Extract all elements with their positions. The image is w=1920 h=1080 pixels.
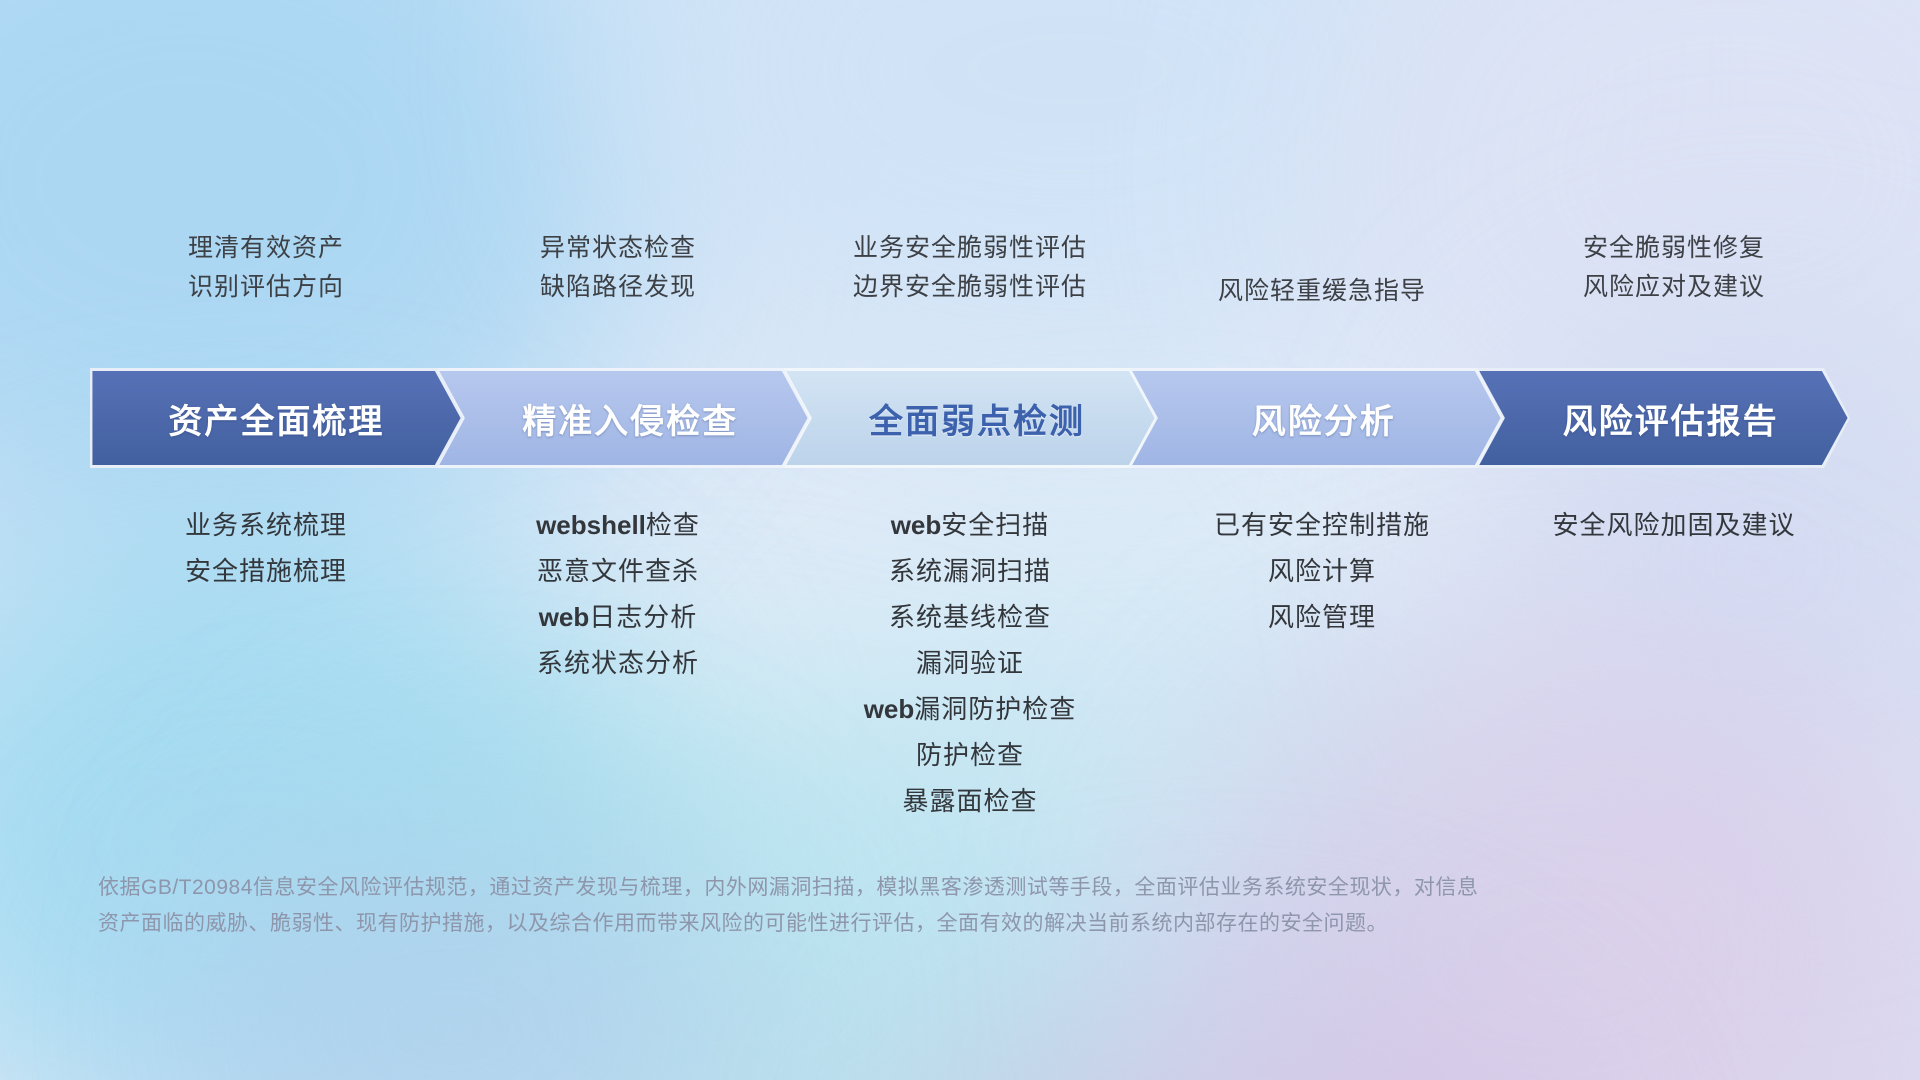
process-stage-label: 风险评估报告	[1563, 394, 1779, 443]
top-detail-col-weakness-detection: 业务安全脆弱性评估边界安全脆弱性评估	[794, 236, 1146, 346]
infographic-canvas: 理清有效资产识别评估方向异常状态检查缺陷路径发现业务安全脆弱性评估边界安全脆弱性…	[0, 0, 1920, 1080]
top-detail-item: 识别评估方向	[188, 275, 344, 300]
bottom-detail-col-asset-inventory: 业务系统梳理安全措施梳理	[90, 512, 442, 584]
process-stage-asset-inventory[interactable]: 资产全面梳理	[90, 368, 463, 468]
footer-line-1: 依据GB/T20984信息安全风险评估规范，通过资产发现与梳理，内外网漏洞扫描，…	[98, 870, 1818, 906]
process-stage-label: 全面弱点检测	[869, 394, 1085, 443]
bottom-detail-text: 安全扫描	[941, 510, 1049, 540]
bottom-detail-item: 恶意文件查杀	[537, 558, 699, 584]
bottom-detail-item: 安全风险加固及建议	[1552, 512, 1795, 538]
top-detail-col-assessment-report: 安全脆弱性修复风险应对及建议	[1498, 236, 1850, 346]
top-detail-item: 边界安全脆弱性评估	[853, 275, 1087, 300]
bottom-detail-item: 业务系统梳理	[185, 512, 347, 538]
bottom-detail-item: 已有安全控制措施	[1214, 512, 1430, 538]
process-stage-label: 精准入侵检查	[522, 394, 738, 443]
bottom-detail-item: 风险管理	[1268, 604, 1376, 630]
top-detail-item: 安全脆弱性修复	[1583, 236, 1765, 261]
background-blob	[880, 980, 1580, 1080]
bottom-detail-col-weakness-detection: web安全扫描系统漏洞扫描系统基线检查漏洞验证web漏洞防护检查防护检查暴露面检…	[794, 512, 1146, 814]
bottom-detail-text: 日志分析	[589, 602, 697, 632]
bottom-detail-item: 防护检查	[916, 742, 1024, 768]
process-stage-label: 风险分析	[1252, 394, 1396, 443]
bottom-detail-item: 风险计算	[1268, 558, 1376, 584]
bottom-detail-item: web安全扫描	[891, 512, 1050, 538]
process-stage-label: 资产全面梳理	[168, 394, 384, 443]
bottom-detail-item: 系统基线检查	[889, 604, 1051, 630]
bottom-detail-text: 检查	[646, 510, 700, 540]
top-detail-col-intrusion-check: 异常状态检查缺陷路径发现	[442, 236, 794, 346]
top-detail-col-risk-analysis: 风险轻重缓急指导	[1146, 236, 1498, 346]
process-stage-weakness-detection[interactable]: 全面弱点检测	[784, 368, 1157, 468]
footer-line-2: 资产面临的威胁、脆弱性、现有防护措施，以及综合作用而带来风险的可能性进行评估，全…	[98, 906, 1818, 942]
bottom-detail-emphasis: web	[539, 602, 590, 632]
bottom-detail-item: web日志分析	[539, 604, 698, 630]
bottom-detail-row: 业务系统梳理安全措施梳理webshell检查恶意文件查杀web日志分析系统状态分…	[90, 512, 1850, 814]
top-detail-item: 缺陷路径发现	[540, 275, 696, 300]
footer-description: 依据GB/T20984信息安全风险评估规范，通过资产发现与梳理，内外网漏洞扫描，…	[98, 870, 1818, 942]
bottom-detail-item: web漏洞防护检查	[864, 696, 1077, 722]
bottom-detail-emphasis: web	[891, 510, 942, 540]
bottom-detail-item: 系统状态分析	[537, 650, 699, 676]
process-arrow-band: 资产全面梳理精准入侵检查全面弱点检测风险分析风险评估报告	[90, 368, 1850, 468]
top-detail-item: 风险轻重缓急指导	[1218, 279, 1426, 304]
bottom-detail-item: webshell检查	[536, 512, 700, 538]
top-detail-row: 理清有效资产识别评估方向异常状态检查缺陷路径发现业务安全脆弱性评估边界安全脆弱性…	[90, 236, 1850, 346]
process-stage-intrusion-check[interactable]: 精准入侵检查	[437, 368, 810, 468]
top-detail-item: 异常状态检查	[540, 236, 696, 261]
bottom-detail-emphasis: webshell	[536, 510, 646, 540]
bottom-detail-col-risk-analysis: 已有安全控制措施风险计算风险管理	[1146, 512, 1498, 630]
bottom-detail-item: 漏洞验证	[916, 650, 1024, 676]
top-detail-item: 理清有效资产	[188, 236, 344, 261]
bottom-detail-emphasis: web	[864, 694, 915, 724]
bottom-detail-text: 漏洞防护检查	[914, 694, 1076, 724]
bottom-detail-col-intrusion-check: webshell检查恶意文件查杀web日志分析系统状态分析	[442, 512, 794, 676]
bottom-detail-col-assessment-report: 安全风险加固及建议	[1498, 512, 1850, 538]
bottom-detail-item: 安全措施梳理	[185, 558, 347, 584]
bottom-detail-item: 系统漏洞扫描	[889, 558, 1051, 584]
top-detail-col-asset-inventory: 理清有效资产识别评估方向	[90, 236, 442, 346]
top-detail-item: 风险应对及建议	[1583, 275, 1765, 300]
top-detail-item: 业务安全脆弱性评估	[853, 236, 1087, 261]
process-stage-assessment-report[interactable]: 风险评估报告	[1477, 368, 1850, 468]
bottom-detail-item: 暴露面检查	[902, 788, 1037, 814]
process-stage-risk-analysis[interactable]: 风险分析	[1130, 368, 1503, 468]
background-blob	[140, 820, 760, 1080]
